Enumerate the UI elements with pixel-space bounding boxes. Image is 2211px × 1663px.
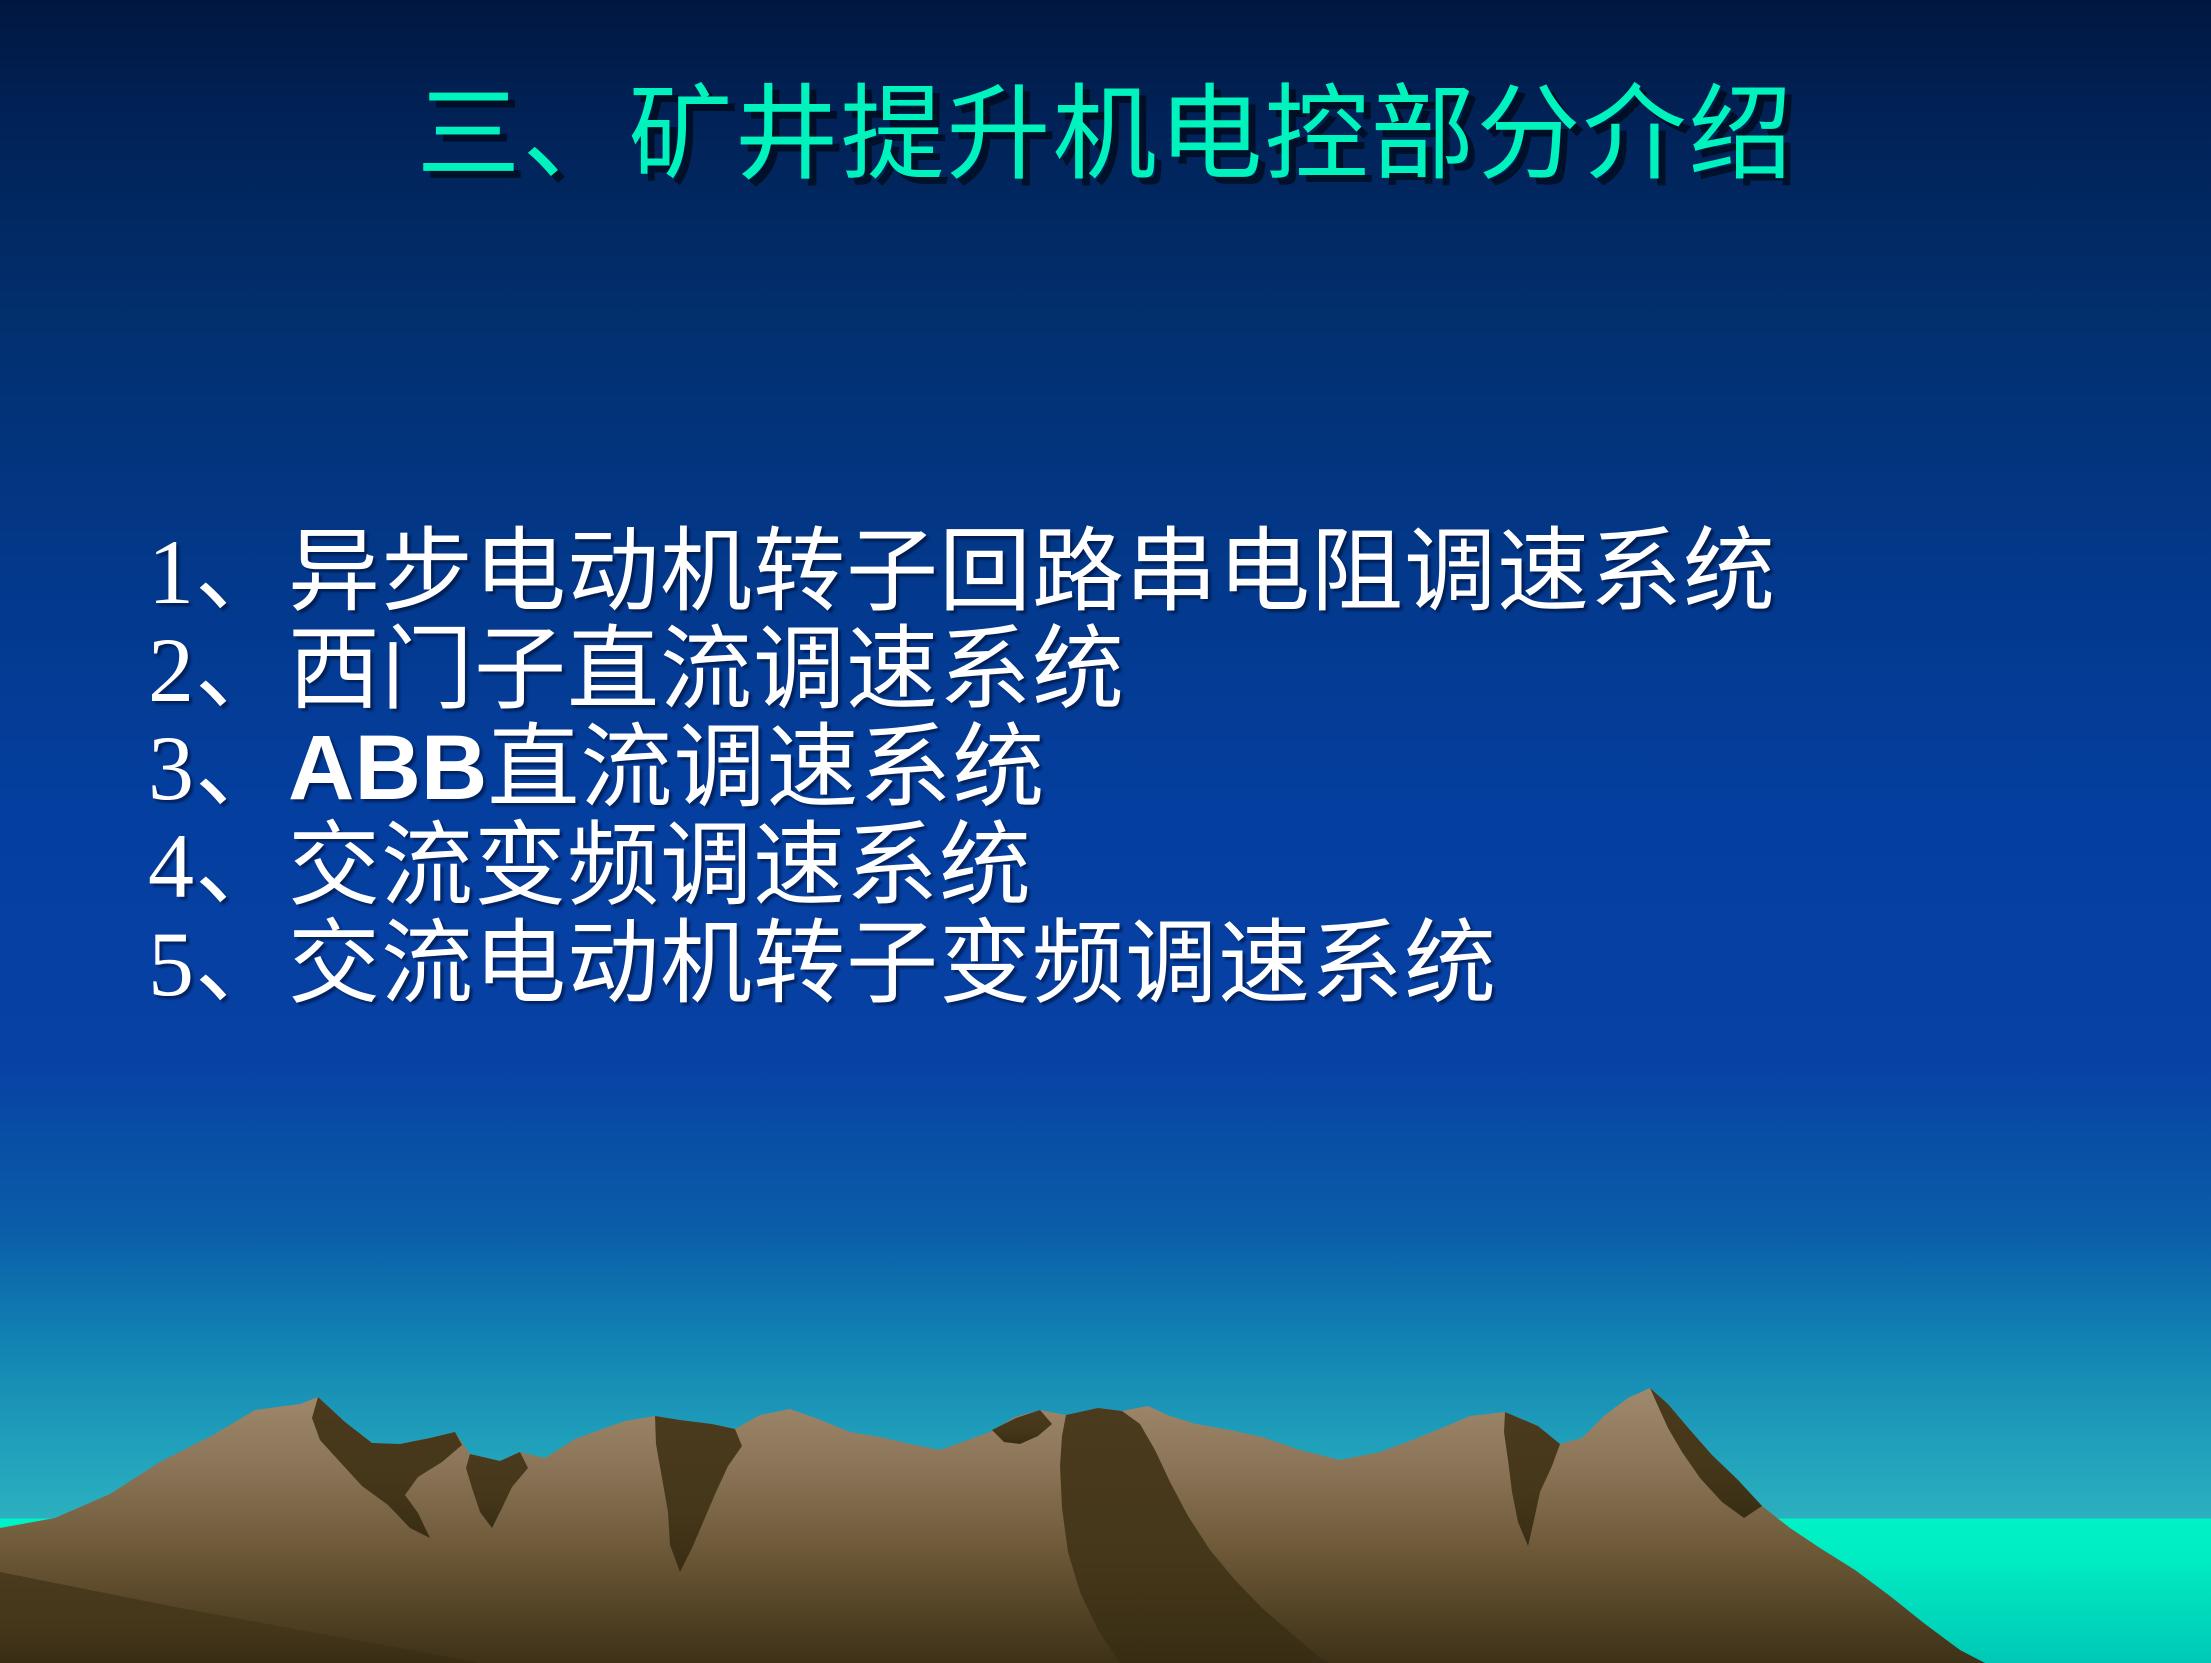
list-item-brand: ABB — [288, 717, 487, 819]
list-item-text: 交流变频调速系统 — [288, 815, 1032, 917]
list-item: 3、ABB直流调速系统 — [148, 719, 2128, 817]
list-item-number: 5、 — [148, 913, 288, 1015]
list-item-text: 西门子直流调速系统 — [288, 619, 1125, 721]
list-item: 5、交流电动机转子变频调速系统 — [148, 915, 2128, 1013]
list-item-number: 2、 — [148, 619, 288, 721]
list-item-text: 交流电动机转子变频调速系统 — [288, 913, 1497, 1015]
list-item: 4、交流变频调速系统 — [148, 817, 2128, 915]
list-item: 1、异步电动机转子回路串电阻调速系统 — [148, 523, 2128, 621]
list-item-text: 直流调速系统 — [487, 717, 1045, 819]
mountain-shadow-faces — [0, 1388, 1762, 1663]
bullet-list: 1、异步电动机转子回路串电阻调速系统 2、西门子直流调速系统 3、ABB直流调速… — [148, 523, 2128, 1013]
mountain-ridge-light — [0, 1388, 1985, 1663]
slide-title: 三、矿井提升机电控部分介绍 — [0, 78, 2211, 194]
list-item: 2、西门子直流调速系统 — [148, 621, 2128, 719]
list-item-number: 4、 — [148, 815, 288, 917]
list-item-number: 3、 — [148, 717, 288, 819]
list-item-number: 1、 — [148, 521, 288, 623]
list-item-text: 异步电动机转子回路串电阻调速系统 — [288, 521, 1776, 623]
presentation-slide: 三、矿井提升机电控部分介绍 1、异步电动机转子回路串电阻调速系统 2、西门子直流… — [0, 0, 2211, 1663]
